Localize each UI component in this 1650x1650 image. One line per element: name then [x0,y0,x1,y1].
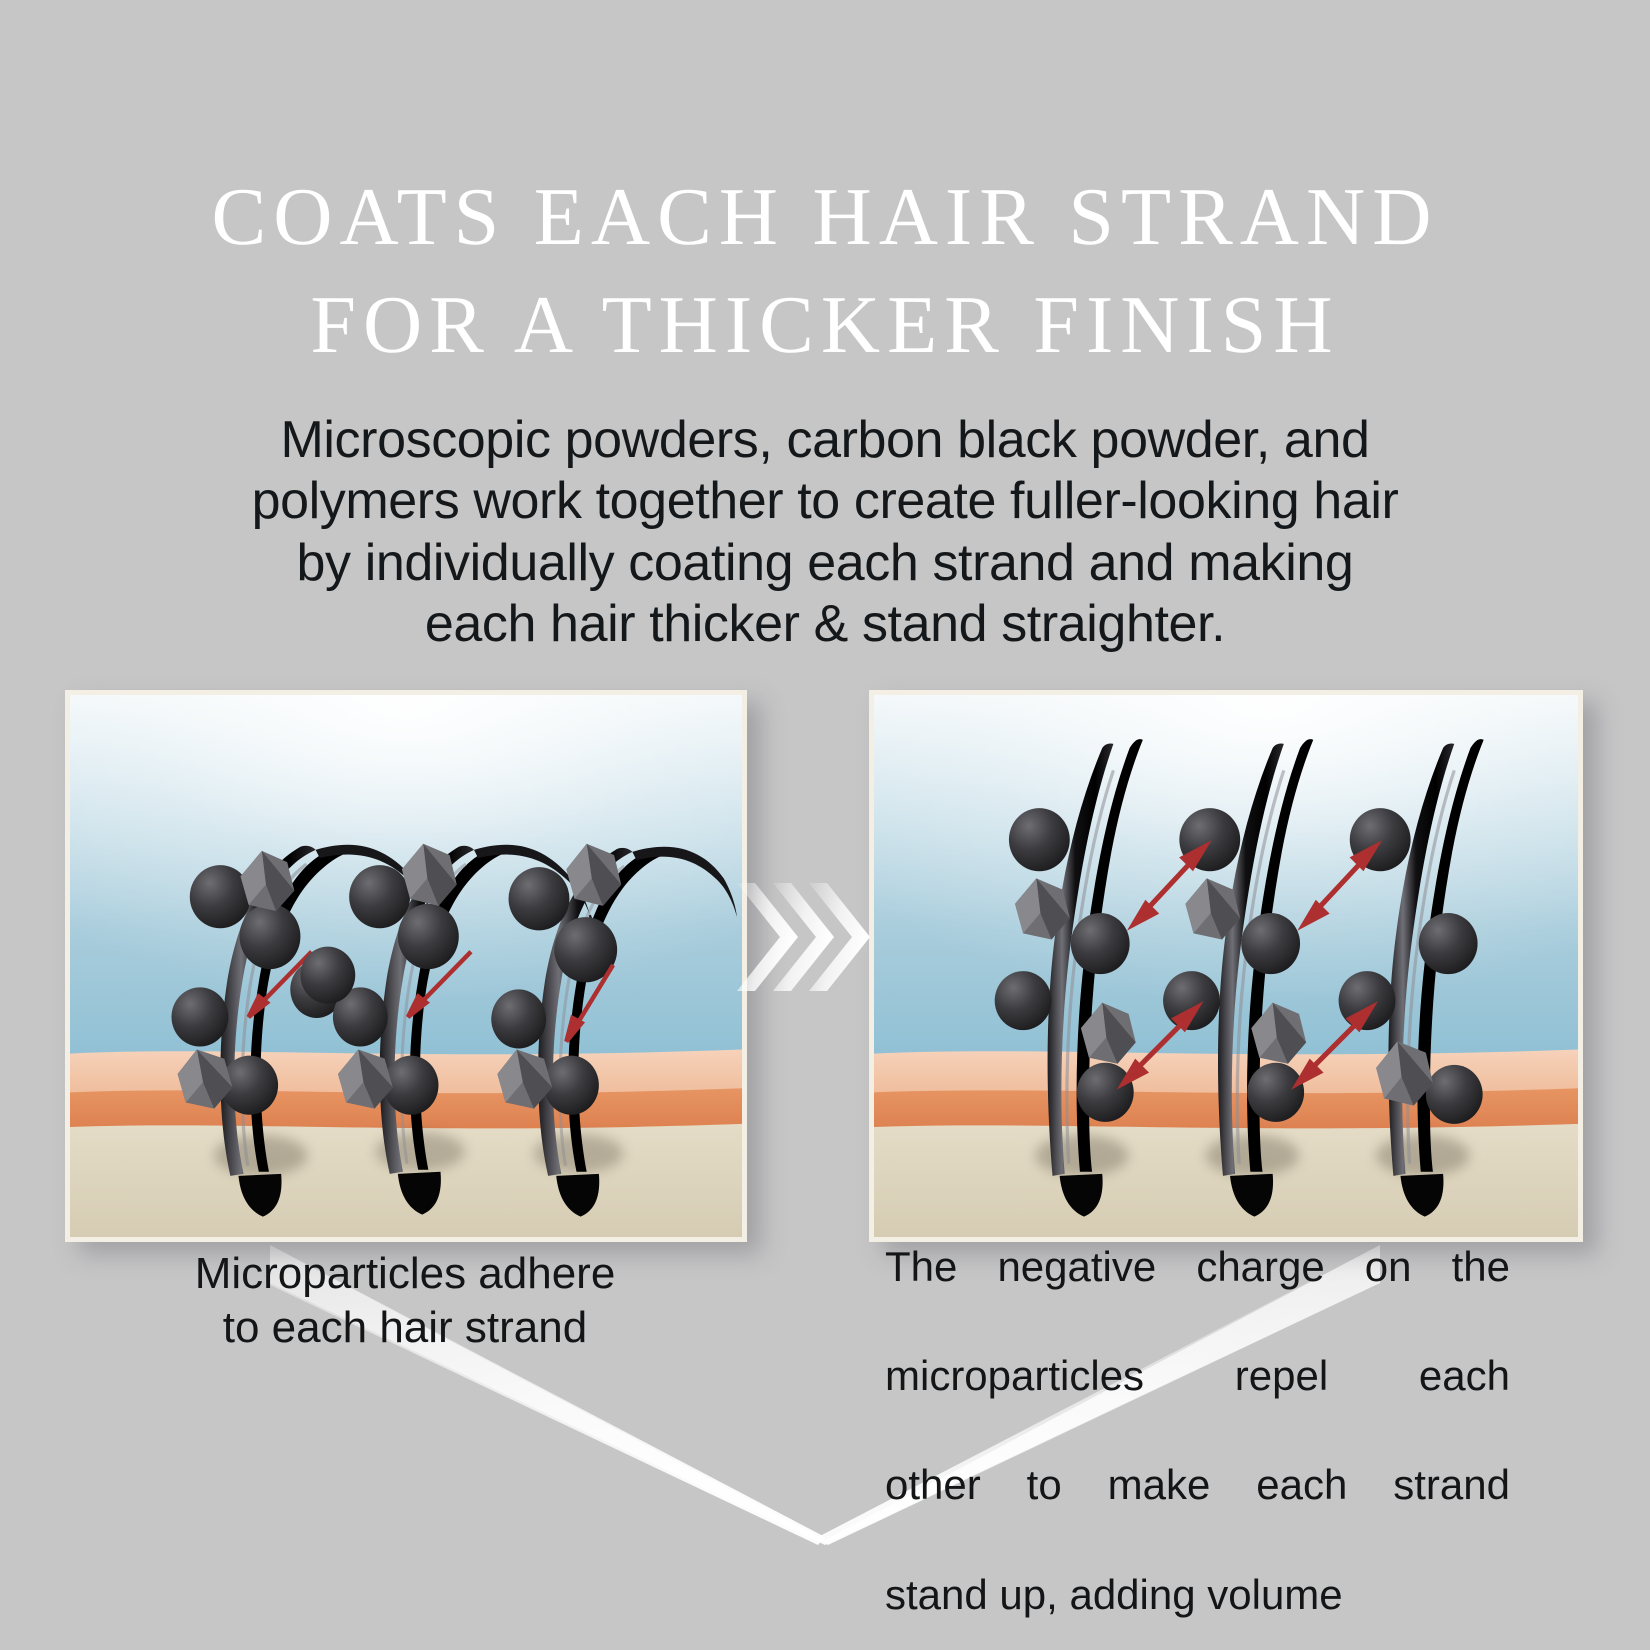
caption-right-line-1: The negative charge on the [885,1240,1510,1349]
microparticles-adhere-illustration [65,690,747,1242]
caption-left-line-1: Microparticles adhere [60,1247,750,1301]
microparticles-repel-illustration [869,690,1583,1242]
caption-left-line-2: to each hair strand [60,1301,750,1355]
intro-line-2: polymers work together to create fuller-… [115,471,1535,532]
caption-right-line-2: microparticles repel each [885,1349,1510,1458]
intro-line-4: each hair thicker & stand straighter. [115,594,1535,655]
caption-right-line-4: stand up, adding volume [885,1568,1510,1623]
caption-left: Microparticles adhere to each hair stran… [60,1247,750,1354]
intro-line-3: by individually coating each strand and … [115,533,1535,594]
title-line-1: COATS EACH HAIR STRAND [0,163,1650,271]
title-line-2: FOR A THICKER FINISH [0,271,1650,379]
page-title: COATS EACH HAIR STRAND FOR A THICKER FIN… [0,163,1650,379]
infographic-canvas: COATS EACH HAIR STRAND FOR A THICKER FIN… [0,0,1650,1650]
caption-right: The negative charge on the microparticle… [885,1240,1510,1622]
intro-paragraph: Microscopic powders, carbon black powder… [115,410,1535,655]
forward-chevrons [735,855,875,1020]
intro-line-1: Microscopic powders, carbon black powder… [115,410,1535,471]
caption-right-line-3: other to make each strand [885,1458,1510,1567]
